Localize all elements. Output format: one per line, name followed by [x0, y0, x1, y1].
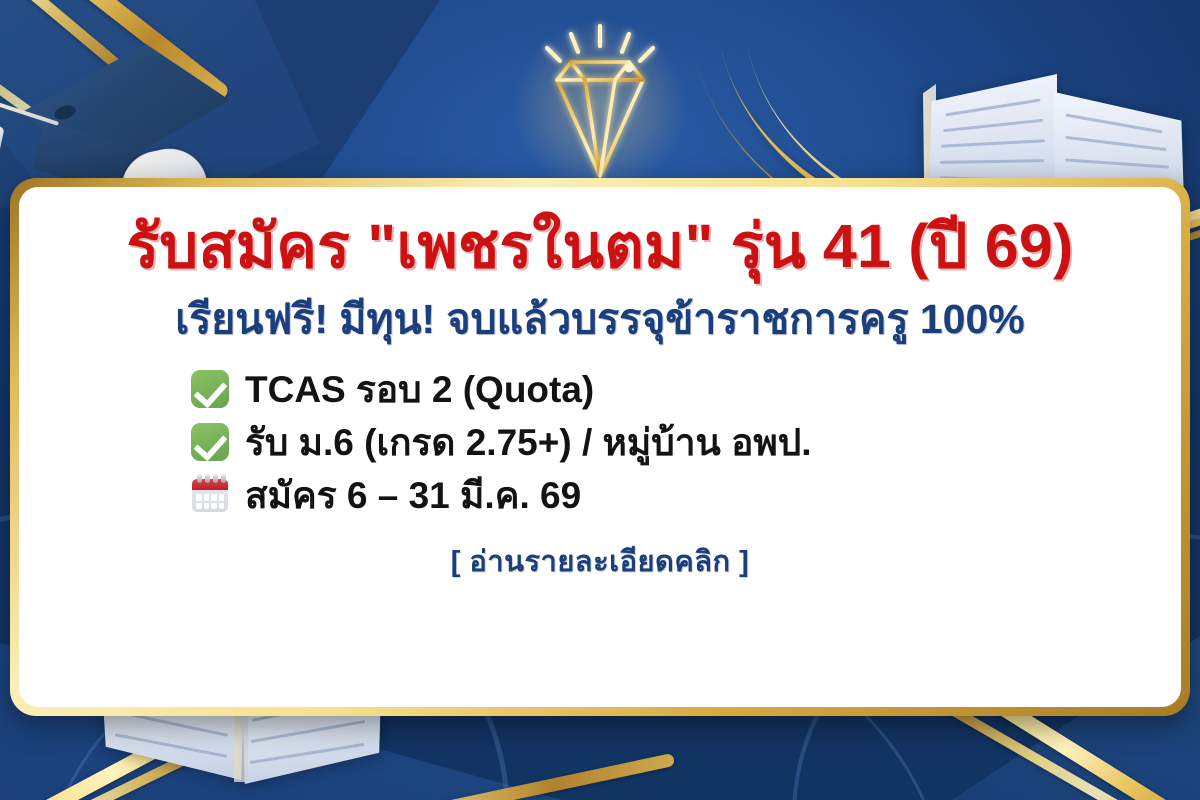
check-mark-button-icon	[189, 421, 231, 463]
feature-list: TCAS รอบ 2 (Quota) รับ ม.6 (เกรด 2.75+) …	[181, 368, 1019, 516]
page-subtitle: เรียนฟรี! มีทุน! จบแล้วบรรจุข้าราชการครู…	[175, 295, 1025, 344]
diamond-glow	[515, 21, 685, 191]
content-card: รับสมัคร "เพชรในตม" รุ่น 41 (ปี 69) เรีย…	[10, 178, 1190, 716]
check-mark-button-icon	[189, 368, 231, 410]
read-more-link[interactable]: [ อ่านรายละเอียดคลิก ]	[451, 538, 750, 584]
page-title: รับสมัคร "เพชรในตม" รุ่น 41 (ปี 69)	[126, 211, 1073, 281]
list-item-label: สมัคร 6 – 31 มี.ค. 69	[245, 477, 581, 516]
list-item-label: TCAS รอบ 2 (Quota)	[245, 371, 594, 410]
diamond-icon	[505, 18, 695, 188]
list-item: TCAS รอบ 2 (Quota)	[189, 368, 1019, 410]
list-item: สมัคร 6 – 31 มี.ค. 69	[189, 474, 1019, 516]
content-card-inner: รับสมัคร "เพชรในตม" รุ่น 41 (ปี 69) เรีย…	[19, 187, 1181, 707]
list-item-label: รับ ม.6 (เกรด 2.75+) / หมู่บ้าน อพป.	[245, 424, 812, 463]
list-item: รับ ม.6 (เกรด 2.75+) / หมู่บ้าน อพป.	[189, 421, 1019, 463]
banner-canvas: รับสมัคร "เพชรในตม" รุ่น 41 (ปี 69) เรีย…	[0, 0, 1200, 800]
calendar-icon	[189, 474, 231, 516]
